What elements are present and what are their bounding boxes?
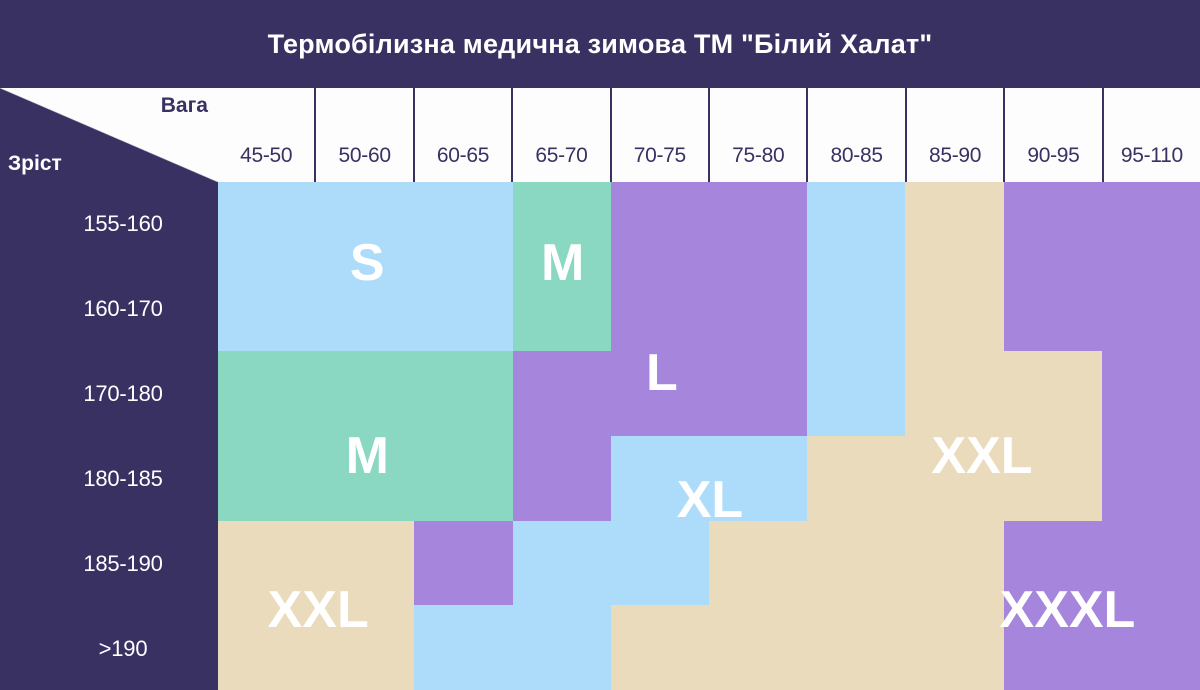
grid-cell: [709, 182, 807, 267]
column-header-label: 75-80: [732, 144, 784, 168]
grid-cell: [905, 182, 1003, 267]
column-header-label: 70-75: [634, 144, 686, 168]
grid-cell: [905, 267, 1003, 352]
grid-cell: [513, 521, 611, 606]
grid-cell: [513, 436, 611, 521]
weight-axis-label: Вага: [161, 94, 208, 118]
grid-cell: [611, 351, 709, 436]
grid-cell: [414, 351, 512, 436]
grid-cell: [218, 436, 316, 521]
grid-cell: [709, 436, 807, 521]
grid-cell: [414, 267, 512, 352]
column-header-70-75: 70-75: [612, 88, 708, 182]
column-header-label: 85-90: [929, 144, 981, 168]
grid-cell: [414, 605, 512, 690]
page-title: Термобілизна медична зимова ТМ "Білий Ха…: [268, 29, 933, 60]
grid-cell: [1102, 521, 1200, 606]
column-header-60-65: 60-65: [415, 88, 511, 182]
grid-cell: [905, 521, 1003, 606]
grid-cell: [1004, 182, 1102, 267]
column-header-95-110: 95-110: [1104, 88, 1200, 182]
grid-cell: [709, 351, 807, 436]
column-header-row: 45-5050-6060-6565-7070-7575-8080-8585-90…: [218, 88, 1200, 182]
grid-cell: [611, 182, 709, 267]
row-header-label: 160-170: [83, 296, 162, 322]
grid-cell: [513, 182, 611, 267]
grid-cell: [1004, 267, 1102, 352]
grid-cell: [1004, 436, 1102, 521]
height-axis-label: Зріст: [8, 152, 62, 176]
grid-cell: [1102, 351, 1200, 436]
grid-cell: [414, 182, 512, 267]
grid-cell: [905, 436, 1003, 521]
grid-cell: [316, 521, 414, 606]
grid-cell: [218, 521, 316, 606]
column-header-label: 60-65: [437, 144, 489, 168]
color-grid: [218, 182, 1200, 690]
grid-cell: [709, 521, 807, 606]
grid-cell: [807, 351, 905, 436]
column-header-75-80: 75-80: [710, 88, 806, 182]
row-header-label: >190: [99, 636, 148, 662]
grid-cell: [1004, 351, 1102, 436]
row-header-170-180: 170-180: [0, 352, 218, 435]
grid-cell: [218, 351, 316, 436]
grid-cell: [513, 605, 611, 690]
grid-cell: [807, 182, 905, 267]
grid-cell: [1102, 267, 1200, 352]
grid-cell: [218, 182, 316, 267]
column-header-label: 45-50: [240, 144, 292, 168]
grid-cell: [414, 521, 512, 606]
grid-cell: [611, 605, 709, 690]
row-header-label: 170-180: [83, 381, 162, 407]
row-header-column: 155-160160-170170-180180-185185-190>190: [0, 182, 218, 690]
grid-cell: [709, 605, 807, 690]
column-header-label: 95-110: [1121, 144, 1183, 168]
grid-cell: [316, 267, 414, 352]
column-header-label: 90-95: [1027, 144, 1079, 168]
row-header-185-190: 185-190: [0, 522, 218, 605]
grid-cell: [709, 267, 807, 352]
row-header-label: 155-160: [83, 211, 162, 237]
grid-cell: [807, 267, 905, 352]
grid-cell: [218, 605, 316, 690]
row-header-label: 180-185: [83, 466, 162, 492]
column-header-label: 65-70: [535, 144, 587, 168]
column-header-90-95: 90-95: [1005, 88, 1101, 182]
grid-cell: [611, 267, 709, 352]
column-header-45-50: 45-50: [218, 88, 314, 182]
grid-cell: [807, 436, 905, 521]
grid-cell: [218, 267, 316, 352]
grid-cell: [611, 436, 709, 521]
chart-body: SMLMXLXXLXXLXXXL: [218, 182, 1200, 690]
grid-cell: [316, 351, 414, 436]
title-bar: Термобілизна медична зимова ТМ "Білий Ха…: [0, 0, 1200, 88]
grid-cell: [513, 267, 611, 352]
grid-cell: [1102, 182, 1200, 267]
size-chart: Термобілизна медична зимова ТМ "Білий Ха…: [0, 0, 1200, 690]
grid-cell: [316, 182, 414, 267]
size-table: Вага Зріст 45-5050-6060-6565-7070-7575-8…: [0, 88, 1200, 690]
grid-cell: [316, 436, 414, 521]
column-header-label: 80-85: [831, 144, 883, 168]
column-header-85-90: 85-90: [907, 88, 1003, 182]
column-header-80-85: 80-85: [808, 88, 904, 182]
grid-cell: [1102, 436, 1200, 521]
column-header-label: 50-60: [339, 144, 391, 168]
grid-cell: [316, 605, 414, 690]
grid-cell: [611, 521, 709, 606]
column-header-50-60: 50-60: [316, 88, 412, 182]
row-header-label: 185-190: [83, 551, 162, 577]
grid-cell: [807, 521, 905, 606]
grid-cell: [807, 605, 905, 690]
row-header-180-185: 180-185: [0, 437, 218, 520]
grid-cell: [905, 351, 1003, 436]
grid-cell: [1004, 521, 1102, 606]
grid-cell: [513, 351, 611, 436]
row-header-155-160: 155-160: [0, 182, 218, 265]
corner-header-cell: Вага Зріст: [0, 88, 218, 182]
column-header-65-70: 65-70: [513, 88, 609, 182]
grid-cell: [414, 436, 512, 521]
row-header-160-170: 160-170: [0, 267, 218, 350]
grid-cell: [905, 605, 1003, 690]
row-header-gt190: >190: [0, 607, 218, 690]
grid-cell: [1102, 605, 1200, 690]
grid-cell: [1004, 605, 1102, 690]
